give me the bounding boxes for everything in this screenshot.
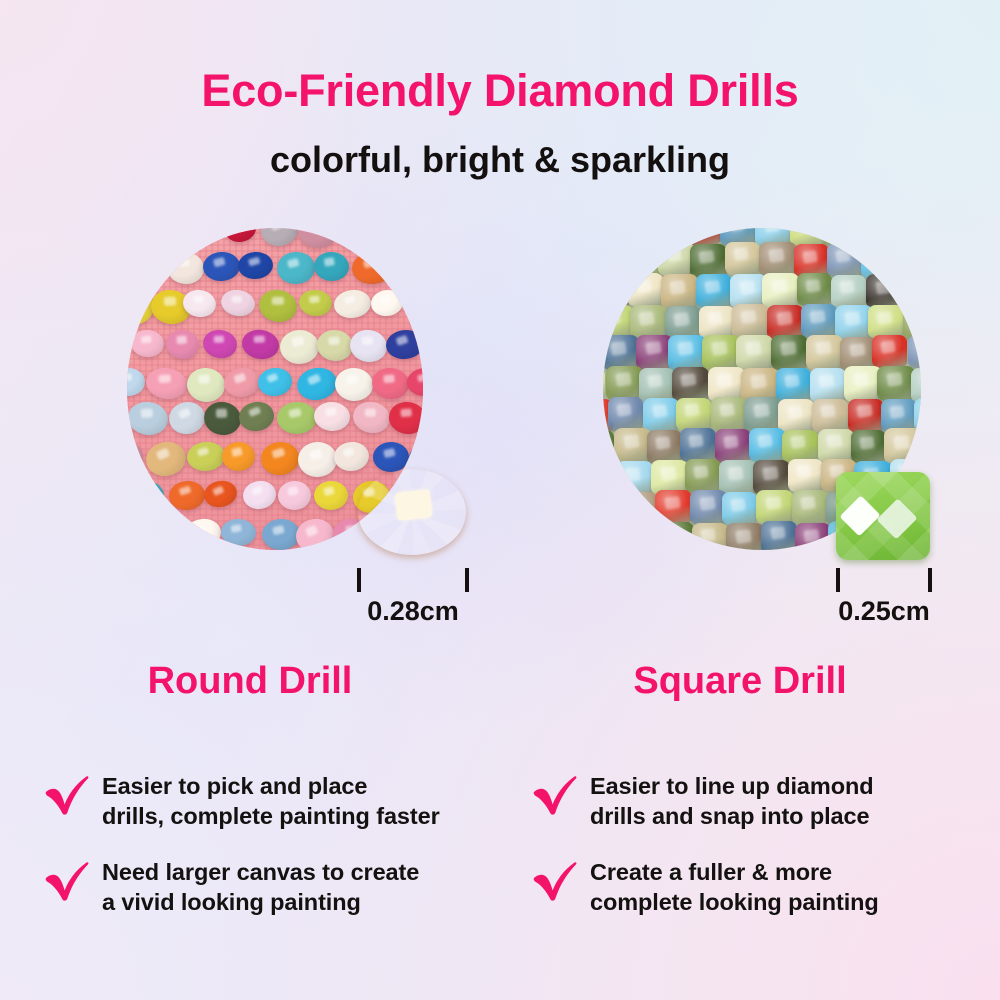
feature-item: Easier to pick and placedrills, complete… — [44, 772, 514, 832]
green-square-drill-sample — [836, 472, 930, 560]
square-drill-gem — [749, 428, 785, 462]
feature-item: Easier to line up diamonddrills and snap… — [532, 772, 982, 832]
square-drill-gem — [920, 428, 921, 461]
square-drill-gem — [696, 274, 732, 308]
check-icon — [44, 774, 90, 816]
square-drill-gem — [866, 274, 903, 309]
square-drill-gem — [621, 492, 658, 527]
page-title: Eco-Friendly Diamond Drills — [0, 68, 1000, 113]
square-drill-gem — [877, 366, 915, 401]
square-drill-gem — [801, 304, 838, 338]
feature-text: Easier to pick and placedrills, complete… — [102, 772, 440, 832]
square-drill-gem — [719, 460, 757, 496]
square-drill-gem — [606, 366, 643, 401]
square-drill-gem — [759, 242, 797, 277]
square-drill-gem — [795, 523, 831, 550]
square-drill-gem — [776, 368, 812, 401]
round-drill-size-label: 0.28cm — [357, 596, 469, 627]
square-drill-gem — [608, 397, 644, 430]
square-drill-gem — [659, 522, 694, 550]
square-drill-gem — [680, 428, 716, 462]
square-drill-gem — [900, 275, 921, 309]
square-drill-gem — [810, 368, 847, 402]
square-drill-gem — [655, 490, 691, 524]
square-drill-gem — [692, 523, 728, 551]
square-drill-gem — [616, 461, 653, 496]
square-drill-gem — [725, 242, 761, 276]
square-drill-gem — [914, 398, 921, 432]
square-drill-feature-list: Easier to line up diamonddrills and snap… — [532, 772, 982, 943]
square-drill-gem — [715, 429, 751, 463]
square-drill-gem — [806, 335, 843, 370]
square-drill-gem — [908, 335, 921, 369]
square-drill-gem — [761, 521, 797, 550]
feature-text: Create a fuller & morecomplete looking p… — [590, 858, 879, 918]
square-drill-gem — [614, 428, 651, 463]
feature-item: Create a fuller & morecomplete looking p… — [532, 858, 982, 918]
square-drill-gem — [643, 398, 679, 432]
scale-tick-right — [465, 568, 469, 592]
square-drill-gem — [603, 430, 614, 464]
square-drill-gem — [722, 492, 757, 525]
check-icon — [532, 860, 578, 902]
square-drill-gem — [827, 243, 863, 277]
square-drill-gem — [872, 335, 908, 369]
square-drill-gem — [726, 523, 764, 550]
square-drill-gem — [797, 273, 832, 306]
square-drill-gem — [627, 273, 663, 307]
square-drill-gem — [672, 367, 709, 402]
square-drill-gem — [603, 335, 639, 370]
square-drill-gem — [625, 523, 663, 550]
square-drill-gem — [702, 335, 739, 370]
square-drill-gem — [851, 430, 886, 463]
square-drill-gem — [771, 335, 808, 370]
square-drill-size-label: 0.25cm — [836, 596, 932, 627]
square-drill-gem — [848, 399, 884, 433]
square-drill-gem — [736, 335, 773, 370]
square-drill-gem — [711, 397, 747, 431]
square-drill-gem — [812, 399, 848, 433]
square-drill-gem — [668, 335, 706, 371]
feature-text: Easier to line up diamonddrills and snap… — [590, 772, 873, 832]
square-drill-gem — [788, 459, 823, 492]
square-drill-gem — [658, 242, 694, 276]
check-icon — [532, 774, 578, 816]
square-drill-gem — [895, 243, 921, 279]
square-drill-gem — [818, 429, 854, 463]
feature-text: Need larger canvas to createa vivid look… — [102, 858, 419, 918]
square-drill-gem — [792, 490, 828, 524]
round-drill-highlight — [394, 490, 431, 521]
square-drill-gem — [778, 399, 814, 433]
square-drill-gem — [762, 273, 798, 307]
round-drill-title: Round Drill — [0, 662, 500, 700]
scale-tick-left — [357, 568, 361, 592]
check-icon — [44, 860, 90, 902]
page-subtitle: colorful, bright & sparkling — [0, 142, 1000, 178]
square-drill-gem — [756, 490, 793, 524]
feature-item: Need larger canvas to createa vivid look… — [44, 858, 514, 918]
square-drill-gem — [603, 243, 627, 278]
square-drill-gem — [868, 305, 904, 339]
scale-tick-right — [928, 568, 932, 592]
scale-tick-left — [836, 568, 840, 592]
square-drill-gem — [685, 459, 721, 493]
square-drill-gem — [676, 398, 711, 431]
square-drill-gem — [603, 305, 633, 339]
square-drill-gem — [831, 275, 866, 308]
round-drill-gem — [261, 518, 300, 550]
square-drill-gem — [661, 274, 698, 309]
square-drill-gem — [603, 523, 627, 550]
square-drill-gem — [732, 304, 769, 339]
square-drill-title: Square Drill — [500, 662, 980, 700]
orange-round-drill-sample — [358, 469, 466, 555]
round-drill-feature-list: Easier to pick and placedrills, complete… — [44, 772, 514, 943]
square-drill-gem — [686, 228, 721, 245]
